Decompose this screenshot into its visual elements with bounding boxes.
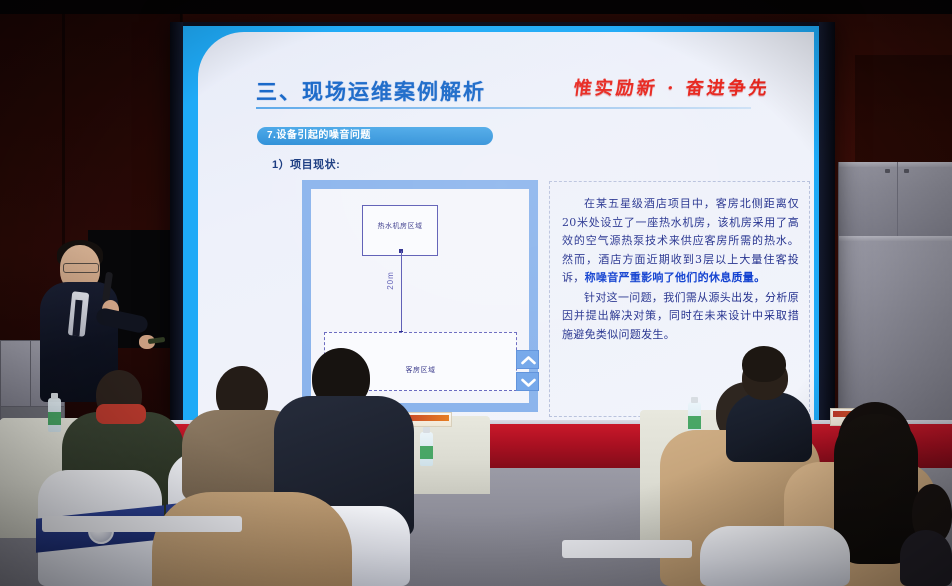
slide-section-pill: 7.设备引起的噪音问题 bbox=[257, 127, 493, 145]
audience-red-collar-1 bbox=[96, 404, 146, 424]
audience-body-5 bbox=[152, 492, 352, 586]
audience-body-6 bbox=[726, 392, 812, 462]
dimension-line bbox=[401, 251, 402, 335]
audience-body-8 bbox=[900, 530, 952, 586]
presentation-slide: 三、现场运维案例解析 惟实励新 · 奋进争先 7.设备引起的噪音问题 1）项目现… bbox=[183, 26, 819, 424]
chair-right-front[interactable] bbox=[700, 526, 850, 586]
paragraph-1: 在某五星级酒店项目中，客房北侧距离仅20米处设立了一座热水机房，该机房采用了高效… bbox=[562, 195, 799, 288]
scroll-down-button[interactable] bbox=[516, 372, 539, 391]
dimension-label: 20m bbox=[386, 271, 395, 290]
screen-bezel-right bbox=[819, 22, 835, 427]
slide-nav-buttons[interactable] bbox=[516, 350, 539, 394]
partition-panel-2 bbox=[897, 162, 952, 236]
chair-rail-left bbox=[42, 516, 242, 532]
water-bottle-left bbox=[48, 398, 61, 432]
scroll-up-button[interactable] bbox=[516, 350, 539, 369]
partition-panel-3 bbox=[838, 236, 952, 436]
slide-title: 三、现场运维案例解析 bbox=[256, 76, 486, 106]
presenter-glasses bbox=[63, 263, 99, 273]
chevron-up-icon bbox=[521, 355, 536, 366]
slide-sub-item: 1）项目现状: bbox=[272, 156, 340, 172]
slide-slogan: 惟实励新 · 奋进争先 bbox=[573, 74, 772, 100]
audience-head-9 bbox=[742, 346, 786, 382]
chair-rail-right bbox=[562, 540, 692, 558]
paragraph-2: 针对这一问题，我们需从源头出发，分析原因并提出解决对策，同时在未来设计中采取措施… bbox=[562, 289, 799, 345]
title-underline bbox=[256, 107, 751, 109]
machine-room-label: 热水机房区域 bbox=[363, 221, 437, 231]
slide-content-card: 三、现场运维案例解析 惟实励新 · 奋进争先 7.设备引起的噪音问题 1）项目现… bbox=[198, 32, 814, 424]
chevron-down-icon bbox=[521, 377, 536, 388]
conference-room-photo: 三、现场运维案例解析 惟实励新 · 奋进争先 7.设备引起的噪音问题 1）项目现… bbox=[0, 0, 952, 586]
water-bottle-center bbox=[420, 432, 433, 466]
partition-panel-1 bbox=[838, 162, 900, 236]
left-cabinet-1 bbox=[0, 340, 32, 408]
paragraph-1-highlight: 称噪音严重影响了他们的休息质量。 bbox=[585, 271, 766, 284]
screen-bezel-left bbox=[170, 22, 183, 427]
